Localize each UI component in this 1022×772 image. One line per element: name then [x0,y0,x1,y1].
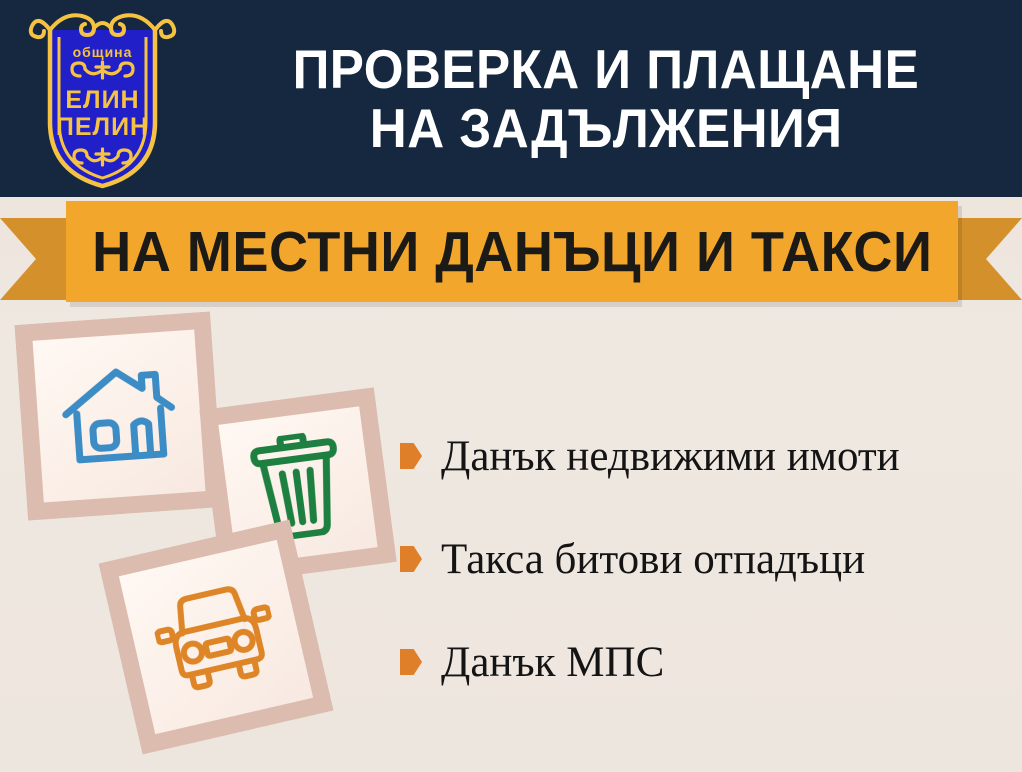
page-title: ПРОВЕРКА И ПЛАЩАНЕ НА ЗАДЪЛЖЕНИЯ [190,0,1022,197]
list-item-label: Данък МПС [441,641,664,684]
tax-types-list: Данък недвижими имоти Такса битови отпад… [400,424,1010,694]
list-item-label: Такса битови отпадъци [441,538,865,581]
arrow-bullet-icon [400,443,422,469]
arrow-bullet-icon [400,546,422,572]
list-item[interactable]: Данък МПС [400,630,1010,694]
poster-canvas: община ЕЛИН ПЕЛИН [0,0,1022,772]
svg-text:ПЕЛИН: ПЕЛИН [56,113,149,141]
page-title-line-2: НА ЗАДЪЛЖЕНИЯ [370,99,843,158]
header-bar: община ЕЛИН ПЕЛИН [0,0,1022,197]
car-front-icon [147,576,284,698]
ribbon-banner: НА МЕСТНИ ДАНЪЦИ И ТАКСИ [66,201,958,302]
list-item-label: Данък недвижими имоти [441,435,900,478]
house-icon [58,360,181,472]
svg-text:ЕЛИН: ЕЛИН [65,86,139,114]
stamp-face [33,330,206,503]
elin-pelin-coat-of-arms-icon: община ЕЛИН ПЕЛИН [20,4,185,190]
list-item[interactable]: Данък недвижими имоти [400,424,1010,488]
ribbon-label: НА МЕСТНИ ДАНЪЦИ И ТАКСИ [92,219,932,285]
svg-text:община: община [73,44,133,60]
list-item[interactable]: Такса битови отпадъци [400,527,1010,591]
subtitle-ribbon: НА МЕСТНИ ДАНЪЦИ И ТАКСИ [0,197,1022,310]
arrow-bullet-icon [400,649,422,675]
property-stamp-card [14,311,223,520]
page-title-line-1: ПРОВЕРКА И ПЛАЩАНЕ [293,40,920,99]
